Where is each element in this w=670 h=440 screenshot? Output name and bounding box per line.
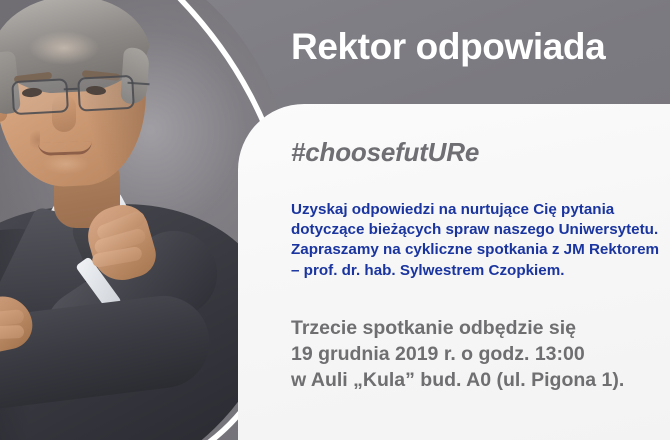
description-line: dotyczące bieżących spraw naszego Uniwer… xyxy=(291,220,670,240)
meeting-details: Trzecie spotkanie odbędzie się 19 grudni… xyxy=(291,315,670,393)
meeting-line: Trzecie spotkanie odbędzie się xyxy=(291,315,670,341)
eyeglass-lens-left xyxy=(11,78,69,115)
meeting-line: w Auli „Kula” bud. A0 (ul. Pigona 1). xyxy=(291,367,670,393)
poster-canvas: Rektor odpowiada #choosefutURe Uzyskaj o… xyxy=(0,0,670,440)
chin-highlight xyxy=(36,156,96,182)
eyeglass-bridge xyxy=(64,88,78,91)
description-line: – prof. dr. hab. Sylwestrem Czopkiem. xyxy=(291,261,670,281)
description-line: Uzyskaj odpowiedzi na nurtujące Cię pyta… xyxy=(291,200,670,220)
description-text: Uzyskaj odpowiedzi na nurtujące Cię pyta… xyxy=(291,200,670,281)
description-line: Zapraszamy na cykliczne spotkania z JM R… xyxy=(291,240,670,260)
campaign-hashtag: #choosefutURe xyxy=(291,137,479,168)
page-title: Rektor odpowiada xyxy=(291,26,605,68)
meeting-line: 19 grudnia 2019 r. o godz. 13:00 xyxy=(291,341,670,367)
eyeglass-lens-right xyxy=(77,75,135,112)
eyeglasses-icon xyxy=(0,70,147,118)
forehead-highlight xyxy=(24,28,114,72)
